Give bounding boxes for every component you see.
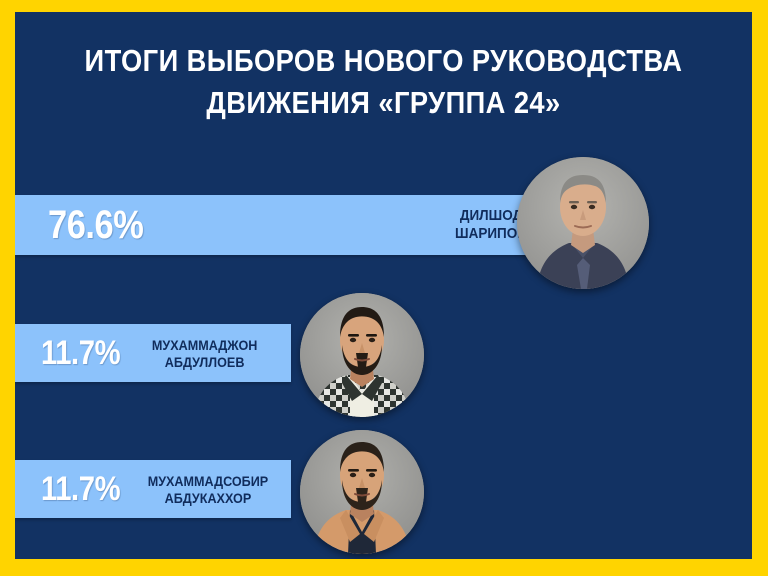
title-line-2: ДВИЖЕНИЯ «ГРУППА 24»	[59, 82, 708, 124]
title-line-1: ИТОГИ ВЫБОРОВ НОВОГО РУКОВОДСТВА	[59, 40, 708, 82]
bar-1-value-label: 76.6%	[48, 203, 143, 248]
bar-2-name-line-1: МУХАММАДЖОН	[152, 338, 257, 352]
bar-3-name-line-1: МУХАММАДСОБИР	[148, 474, 268, 488]
bar-3-name-line-2: АБДУКАХХОР	[148, 491, 268, 505]
infographic-canvas: ИТОГИ ВЫБОРОВ НОВОГО РУКОВОДСТВА ДВИЖЕНИ…	[0, 0, 768, 576]
bar-1-name-line-2: ШАРИПОВ	[455, 226, 527, 241]
bar-2-name-line-2: АБДУЛЛОЕВ	[152, 355, 257, 369]
portrait-mukhammadzhon-abdulloev	[300, 293, 424, 417]
portrait-mukhammadsobir-abdukakhkhor	[300, 430, 424, 554]
bar-2-value-label: 11.7%	[41, 334, 120, 373]
portrait-dilshod-sharipov	[517, 157, 649, 289]
page-title: ИТОГИ ВЫБОРОВ НОВОГО РУКОВОДСТВА ДВИЖЕНИ…	[59, 40, 708, 124]
bar-3: 11.7% МУХАММАДСОБИР АБДУКАХХОР	[15, 460, 291, 518]
infographic-panel: ИТОГИ ВЫБОРОВ НОВОГО РУКОВОДСТВА ДВИЖЕНИ…	[15, 12, 752, 559]
bar-2: 11.7% МУХАММАДЖОН АБДУЛЛОЕВ	[15, 324, 291, 382]
bar-3-value-label: 11.7%	[41, 470, 120, 509]
bar-3-candidate-name: МУХАММАДСОБИР АБДУКАХХОР	[148, 474, 268, 508]
bar-2-candidate-name: МУХАММАДЖОН АБДУЛЛОЕВ	[152, 338, 257, 372]
